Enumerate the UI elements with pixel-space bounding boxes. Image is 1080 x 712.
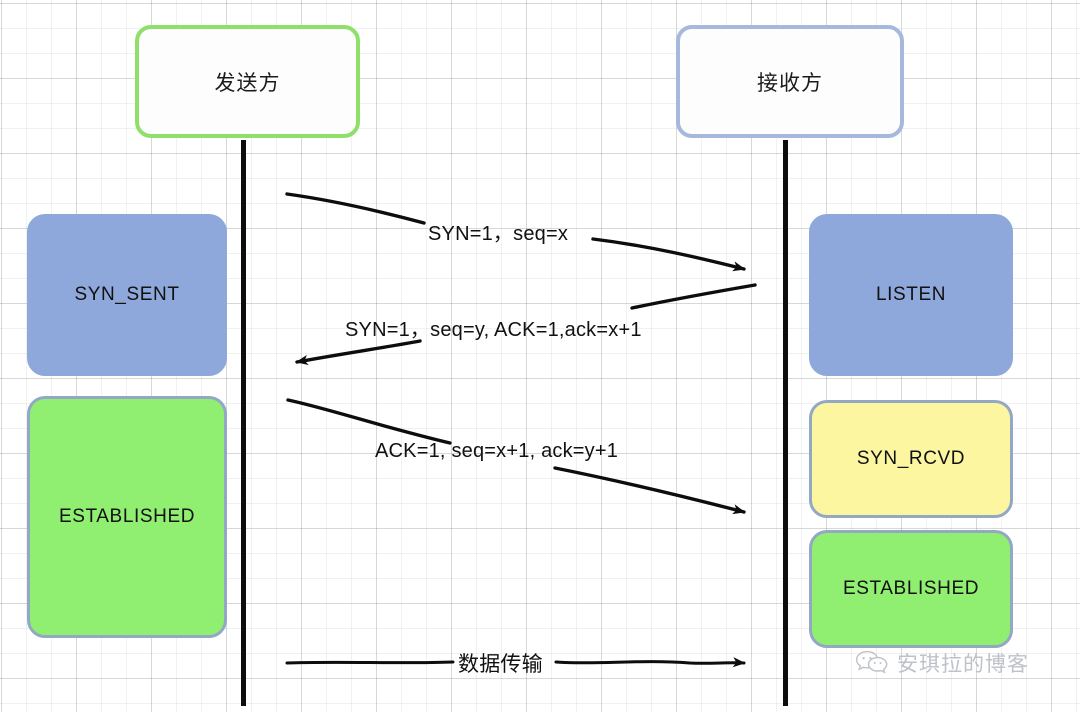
state-label-listen: LISTEN <box>876 284 946 306</box>
lifeline-receiver <box>783 140 788 706</box>
watermark-label: 安琪拉的博客 <box>897 648 1029 678</box>
diagram-canvas: 发送方 接收方 SYN_SENT ESTABLISHED LISTEN SYN_… <box>0 0 1080 712</box>
watermark: 安琪拉的博客 <box>855 648 1029 678</box>
state-label-established-right: ESTABLISHED <box>843 578 979 600</box>
state-box-listen: LISTEN <box>809 214 1013 376</box>
actor-box-sender: 发送方 <box>135 25 360 138</box>
state-label-established-left: ESTABLISHED <box>59 506 195 528</box>
wechat-bubble-icon <box>855 650 889 676</box>
lifeline-sender <box>241 140 246 706</box>
state-label-syn-rcvd: SYN_RCVD <box>857 448 965 470</box>
message-label-4: 数据传输 <box>458 648 543 678</box>
state-box-established-right: ESTABLISHED <box>809 530 1013 648</box>
actor-label-sender: 发送方 <box>215 67 281 97</box>
actor-box-receiver: 接收方 <box>676 25 904 138</box>
state-box-syn-rcvd: SYN_RCVD <box>809 400 1013 518</box>
actor-label-receiver: 接收方 <box>757 67 823 97</box>
message-label-2: SYN=1，seq=y, ACK=1,ack=x+1 <box>345 313 642 342</box>
state-label-syn-sent: SYN_SENT <box>74 284 179 306</box>
state-box-established-left: ESTABLISHED <box>27 396 227 638</box>
message-label-3: ACK=1, seq=x+1, ack=y+1 <box>375 440 618 463</box>
message-label-1: SYN=1，seq=x <box>428 217 568 246</box>
state-box-syn-sent: SYN_SENT <box>27 214 227 376</box>
